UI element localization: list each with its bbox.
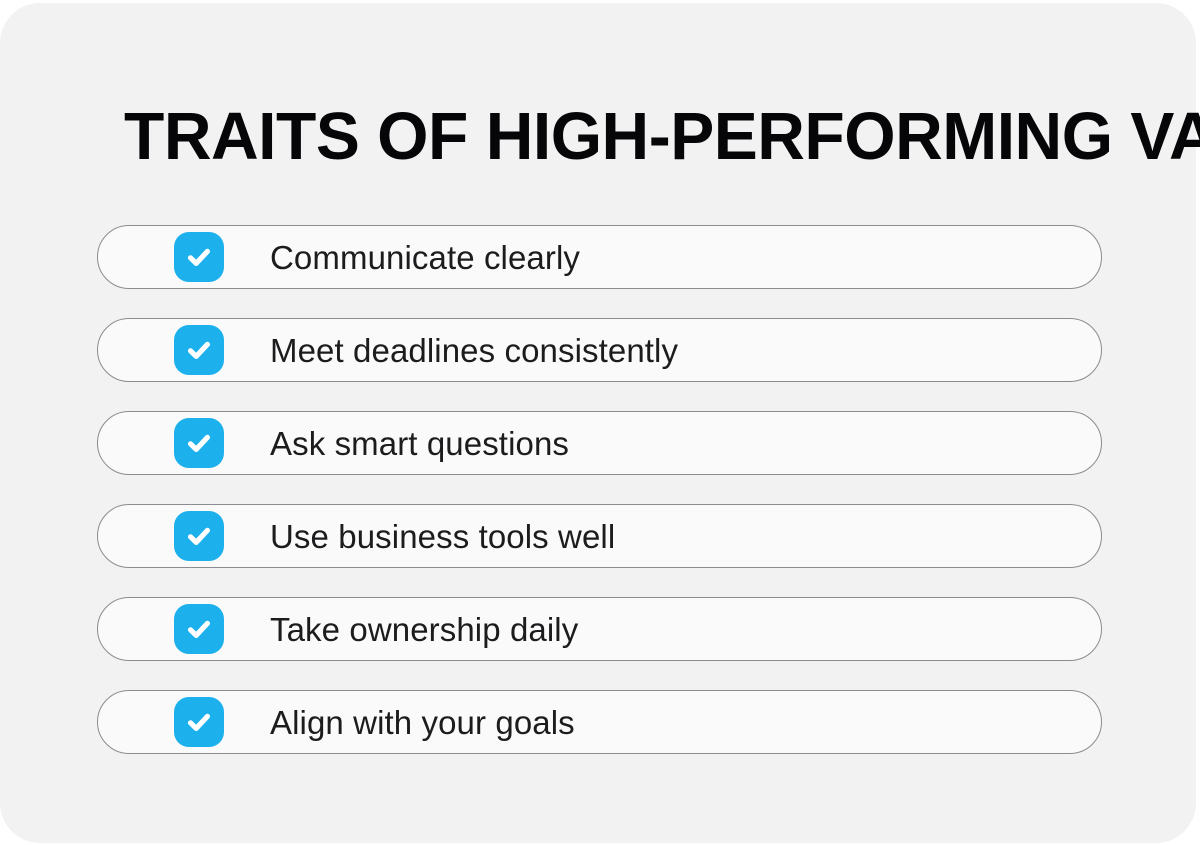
checkbox-checked[interactable] (174, 232, 224, 282)
check-icon (183, 706, 215, 738)
list-item-label: Ask smart questions (270, 412, 569, 476)
list-item[interactable]: Ask smart questions (97, 411, 1102, 475)
traits-card: TRAITS OF HIGH-PERFORMING VAS Communicat… (0, 3, 1196, 843)
list-item[interactable]: Use business tools well (97, 504, 1102, 568)
checkbox-checked[interactable] (174, 418, 224, 468)
list-item-label: Meet deadlines consistently (270, 319, 678, 383)
checkbox-checked[interactable] (174, 511, 224, 561)
list-item[interactable]: Take ownership daily (97, 597, 1102, 661)
checkbox-checked[interactable] (174, 697, 224, 747)
checkbox-checked[interactable] (174, 325, 224, 375)
checkbox-checked[interactable] (174, 604, 224, 654)
page-title: TRAITS OF HIGH-PERFORMING VAS (124, 103, 1060, 170)
list-item-label: Align with your goals (270, 691, 575, 755)
list-item[interactable]: Align with your goals (97, 690, 1102, 754)
check-icon (183, 241, 215, 273)
check-icon (183, 613, 215, 645)
check-icon (183, 520, 215, 552)
check-icon (183, 334, 215, 366)
check-icon (183, 427, 215, 459)
list-item[interactable]: Meet deadlines consistently (97, 318, 1102, 382)
traits-checklist: Communicate clearly Meet deadlines consi… (97, 225, 1102, 754)
list-item-label: Take ownership daily (270, 598, 578, 662)
list-item-label: Use business tools well (270, 505, 615, 569)
list-item[interactable]: Communicate clearly (97, 225, 1102, 289)
list-item-label: Communicate clearly (270, 226, 580, 290)
